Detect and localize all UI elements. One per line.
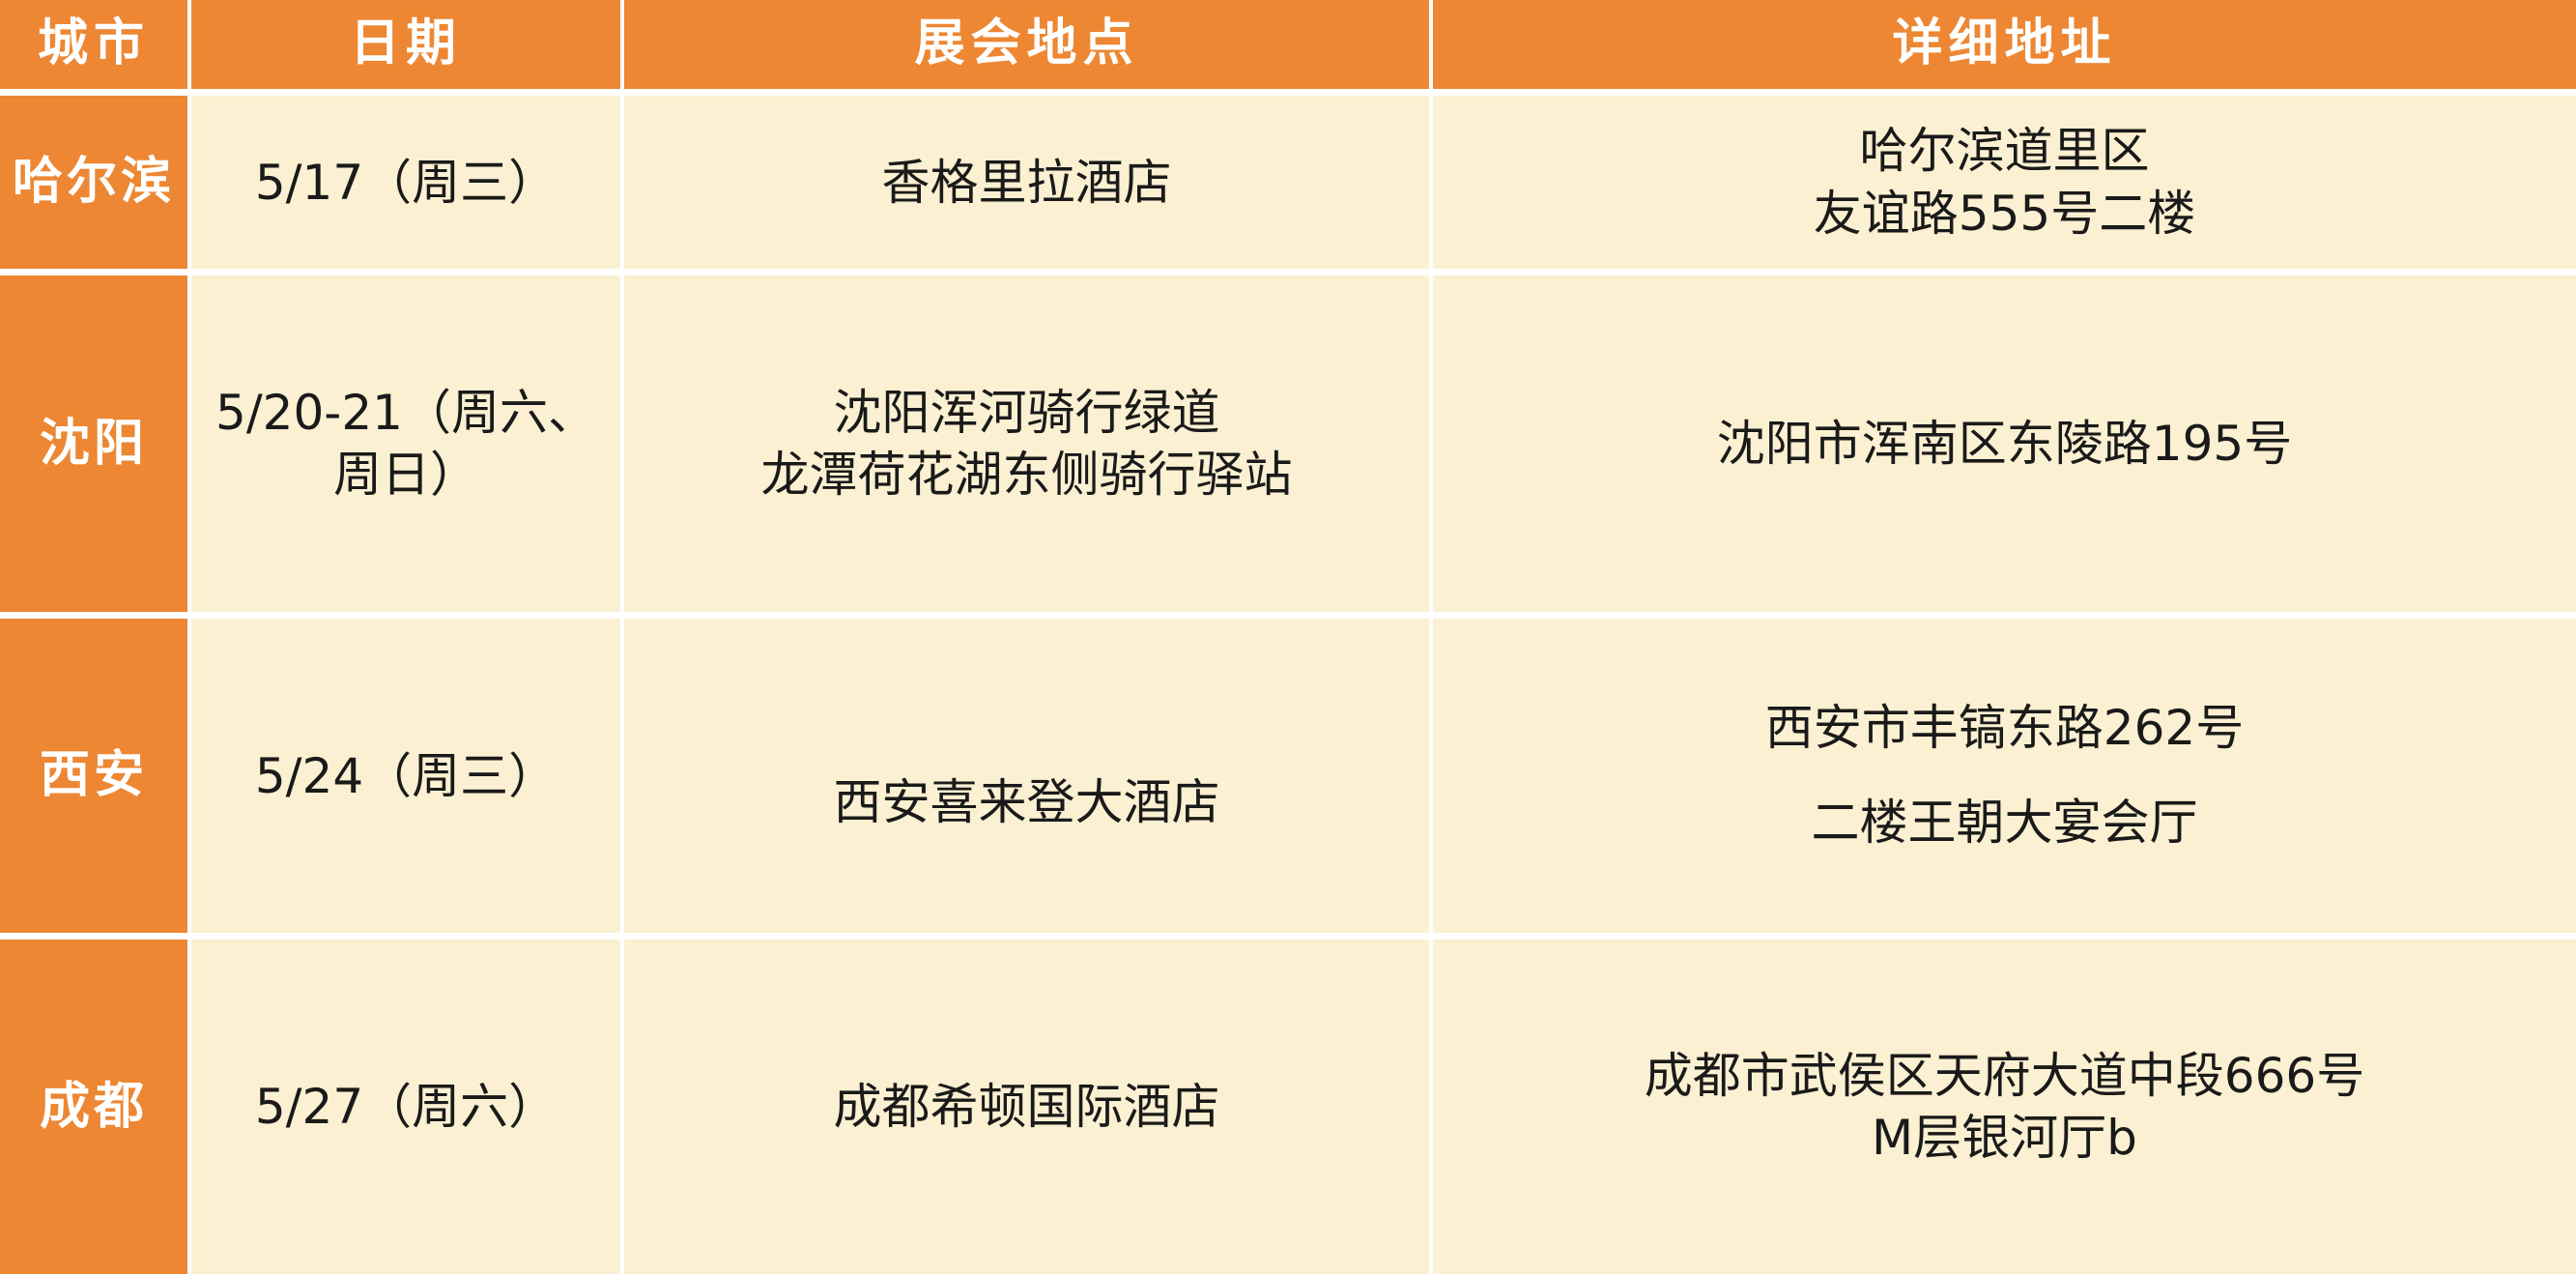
cell-city: 西安 — [0, 612, 191, 934]
exhibition-schedule-table: 城市 日期 展会地点 详细地址 哈尔滨 5/17（周三） 香格里拉酒店 哈尔滨道… — [0, 0, 2576, 1274]
header-row: 城市 日期 展会地点 详细地址 — [0, 0, 2576, 89]
cell-venue: 沈阳浑河骑行绿道 龙潭荷花湖东侧骑行驿站 — [624, 269, 1433, 612]
cell-venue: 成都希顿国际酒店 — [624, 933, 1433, 1274]
table-row: 哈尔滨 5/17（周三） 香格里拉酒店 哈尔滨道里区 友谊路555号二楼 — [0, 89, 2576, 269]
cell-venue: 西安喜来登大酒店 — [624, 612, 1433, 934]
cell-address: 哈尔滨道里区 友谊路555号二楼 — [1433, 89, 2576, 269]
table-row: 成都 5/27（周六） 成都希顿国际酒店 成都市武侯区天府大道中段666号 M层… — [0, 933, 2576, 1274]
cell-city: 成都 — [0, 933, 191, 1274]
cell-city: 哈尔滨 — [0, 89, 191, 269]
cell-date: 5/27（周六） — [191, 933, 624, 1274]
cell-date: 5/17（周三） — [191, 89, 624, 269]
column-header-city: 城市 — [0, 0, 191, 89]
column-header-venue: 展会地点 — [624, 0, 1433, 89]
column-header-address: 详细地址 — [1433, 0, 2576, 89]
cell-address: 成都市武侯区天府大道中段666号 M层银河厅b — [1433, 933, 2576, 1274]
cell-date: 5/24（周三） — [191, 612, 624, 934]
cell-date: 5/20-21（周六、 周日） — [191, 269, 624, 612]
cell-venue: 香格里拉酒店 — [624, 89, 1433, 269]
cell-city: 沈阳 — [0, 269, 191, 612]
cell-address: 沈阳市浑南区东陵路195号 — [1433, 269, 2576, 612]
table-row: 沈阳 5/20-21（周六、 周日） 沈阳浑河骑行绿道 龙潭荷花湖东侧骑行驿站 … — [0, 269, 2576, 612]
column-header-date: 日期 — [191, 0, 624, 89]
table-body: 哈尔滨 5/17（周三） 香格里拉酒店 哈尔滨道里区 友谊路555号二楼 沈阳 … — [0, 89, 2576, 1274]
cell-address: 西安市丰镐东路262号 二楼王朝大宴会厅 — [1433, 612, 2576, 934]
table-row: 西安 5/24（周三） 西安喜来登大酒店 西安市丰镐东路262号 二楼王朝大宴会… — [0, 612, 2576, 934]
table-header: 城市 日期 展会地点 详细地址 — [0, 0, 2576, 89]
